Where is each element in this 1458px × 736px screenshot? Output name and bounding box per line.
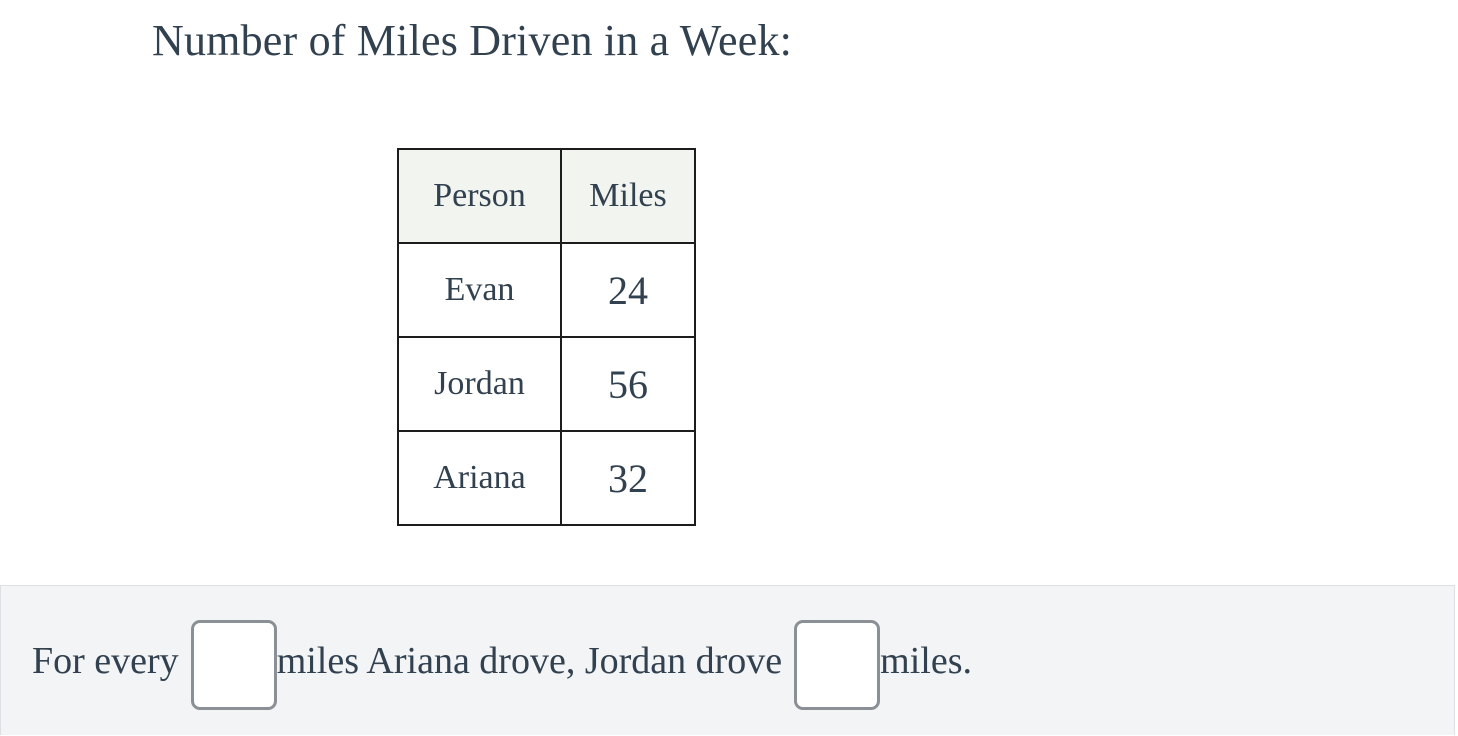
ariana-miles-input[interactable] <box>191 620 277 710</box>
table-header-row: Person Miles <box>398 149 695 243</box>
cell-person-jordan: Jordan <box>398 337 561 431</box>
table-row: Jordan 56 <box>398 337 695 431</box>
miles-table-container: Person Miles Evan 24 Jordan 56 Ariana 32 <box>397 148 696 526</box>
sentence-part-2: miles Ariana drove, Jordan drove <box>277 642 782 680</box>
sentence-part-1: For every <box>32 642 179 680</box>
cell-miles-ariana: 32 <box>561 431 695 525</box>
answer-panel: For every miles Ariana drove, Jordan dro… <box>0 585 1455 735</box>
cell-miles-jordan: 56 <box>561 337 695 431</box>
page-title: Number of Miles Driven in a Week: <box>152 16 792 67</box>
answer-sentence: For every miles Ariana drove, Jordan dro… <box>32 586 972 736</box>
cell-person-evan: Evan <box>398 243 561 337</box>
cell-person-ariana: Ariana <box>398 431 561 525</box>
table-row: Ariana 32 <box>398 431 695 525</box>
table-row: Evan 24 <box>398 243 695 337</box>
column-header-person: Person <box>398 149 561 243</box>
miles-table: Person Miles Evan 24 Jordan 56 Ariana 32 <box>397 148 696 526</box>
cell-miles-evan: 24 <box>561 243 695 337</box>
column-header-miles: Miles <box>561 149 695 243</box>
jordan-miles-input[interactable] <box>794 620 880 710</box>
sentence-part-3: miles. <box>880 642 972 680</box>
